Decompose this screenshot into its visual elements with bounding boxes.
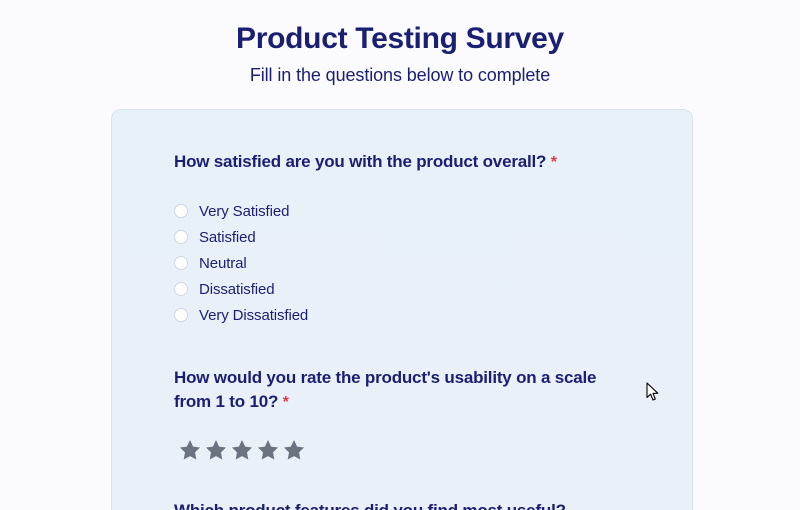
question-usability-rating: How would you rate the product's usabili…: [174, 366, 692, 462]
survey-card-content: How satisfied are you with the product o…: [112, 110, 692, 510]
question-useful-features-text: Which product features did you find most…: [174, 499, 614, 510]
star-icon[interactable]: [204, 438, 228, 462]
page-title: Product Testing Survey: [0, 20, 800, 58]
radio-button-icon[interactable]: [174, 204, 188, 218]
question-useful-features: Which product features did you find most…: [174, 499, 692, 510]
radio-option-satisfied[interactable]: Satisfied: [174, 224, 692, 250]
page-header: Product Testing Survey Fill in the quest…: [0, 0, 800, 86]
radio-option-label: Very Dissatisfied: [199, 307, 308, 324]
radio-option-label: Dissatisfied: [199, 281, 275, 298]
question-usability-text: How would you rate the product's usabili…: [174, 368, 596, 410]
radio-option-very-dissatisfied[interactable]: Very Dissatisfied: [174, 302, 692, 328]
radio-option-very-satisfied[interactable]: Very Satisfied: [174, 198, 692, 224]
star-icon[interactable]: [282, 438, 306, 462]
radio-button-icon[interactable]: [174, 256, 188, 270]
radio-option-label: Neutral: [199, 255, 247, 272]
required-asterisk-icon: *: [283, 394, 289, 411]
radio-option-label: Very Satisfied: [199, 203, 289, 220]
star-rating-control[interactable]: [178, 438, 692, 462]
radio-button-icon[interactable]: [174, 308, 188, 322]
radio-option-neutral[interactable]: Neutral: [174, 250, 692, 276]
page-subtitle: Fill in the questions below to complete: [0, 65, 800, 86]
star-icon[interactable]: [256, 438, 280, 462]
star-icon[interactable]: [230, 438, 254, 462]
question-satisfaction-text: How satisfied are you with the product o…: [174, 152, 546, 171]
radio-option-dissatisfied[interactable]: Dissatisfied: [174, 276, 692, 302]
radio-option-label: Satisfied: [199, 229, 256, 246]
radio-button-icon[interactable]: [174, 230, 188, 244]
question-usability-label: How would you rate the product's usabili…: [174, 366, 614, 414]
satisfaction-options-list: Very Satisfied Satisfied Neutral Dissati…: [174, 198, 692, 328]
radio-button-icon[interactable]: [174, 282, 188, 296]
required-asterisk-icon: *: [551, 154, 557, 171]
survey-card: How satisfied are you with the product o…: [111, 109, 693, 510]
question-satisfaction-label: How satisfied are you with the product o…: [174, 150, 614, 174]
star-icon[interactable]: [178, 438, 202, 462]
question-satisfaction: How satisfied are you with the product o…: [174, 150, 692, 328]
